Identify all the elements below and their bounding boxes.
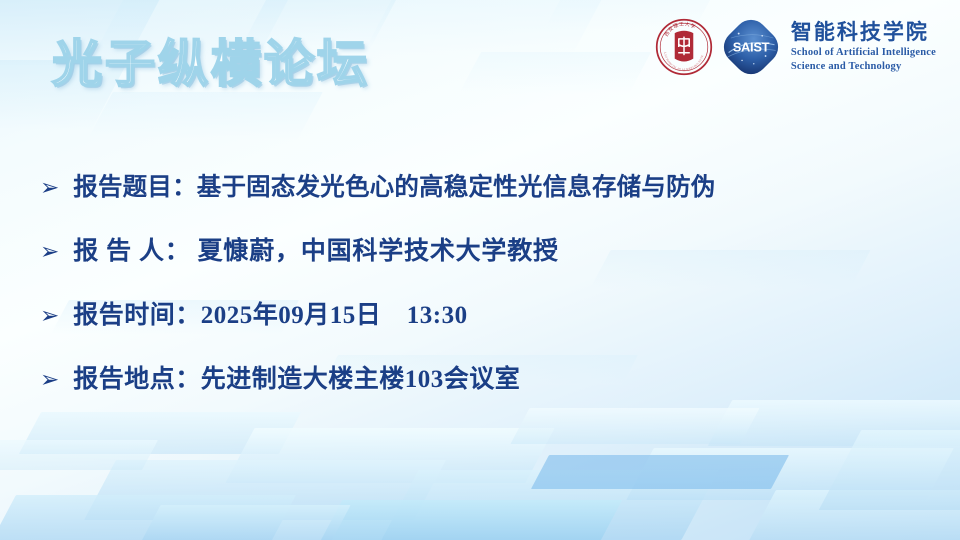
bullet-arrow-icon: ➢ <box>40 305 59 328</box>
school-name-cn: 智能科技学院 <box>791 21 936 45</box>
decor-parallelogram <box>0 495 296 540</box>
talk-location-line: 报告地点：先进制造大楼主楼103会议室 <box>73 359 520 395</box>
decor-parallelogram <box>708 400 960 446</box>
decor-parallelogram <box>84 460 446 520</box>
bullet-arrow-icon: ➢ <box>40 241 59 264</box>
decor-parallelogram <box>626 448 954 500</box>
list-item: ➢ 报告题目：基于固态发光色心的高稳定性光信息存储与防伪 <box>40 168 940 203</box>
decor-parallelogram <box>0 440 158 470</box>
forum-title: 光子纵横论坛 <box>52 24 370 96</box>
list-item: ➢ 报 告 人： 夏慷蔚，中国科学技术大学教授 <box>40 231 940 267</box>
decor-parallelogram <box>459 52 651 94</box>
decor-parallelogram <box>744 490 960 540</box>
decor-parallelogram <box>381 470 718 540</box>
decor-parallelogram <box>318 500 622 540</box>
bullet-arrow-icon: ➢ <box>40 177 59 200</box>
school-name-en-line1: School of Artificial Intelligence <box>791 47 936 59</box>
decor-parallelogram <box>139 505 350 540</box>
decor-parallelogram <box>531 455 789 489</box>
bullet-arrow-icon: ➢ <box>40 369 59 392</box>
saist-logo-text: SAIST <box>733 39 770 54</box>
decor-parallelogram <box>362 0 628 55</box>
details-list: ➢ 报告题目：基于固态发光色心的高稳定性光信息存储与防伪 ➢ 报 告 人： 夏慷… <box>40 168 940 395</box>
decor-parallelogram <box>19 412 301 454</box>
university-seal-icon: 西安理工大学 XI'AN UNIVERSITY OF TECHNOLOGY <box>655 18 713 76</box>
talk-title-line: 报告题目：基于固态发光色心的高稳定性光信息存储与防伪 <box>73 168 715 203</box>
speaker-line: 报 告 人： 夏慷蔚，中国科学技术大学教授 <box>73 231 559 267</box>
list-item: ➢ 报告地点：先进制造大楼主楼103会议室 <box>40 359 940 395</box>
list-item: ➢ 报告时间：2025年09月15日 13:30 <box>40 295 940 331</box>
decor-parallelogram <box>87 92 323 140</box>
decor-parallelogram <box>225 428 554 483</box>
decor-parallelogram <box>819 430 960 510</box>
saist-diamond-logo-icon: SAIST <box>723 19 779 75</box>
decor-parallelogram <box>510 408 759 444</box>
talk-time-line: 报告时间：2025年09月15日 13:30 <box>73 295 467 331</box>
presentation-slide: 光子纵横论坛 西安理工大学 XI'AN UNIVERSITY OF TECHNO… <box>0 0 960 540</box>
school-name-block: 智能科技学院 School of Artificial Intelligence… <box>789 21 936 72</box>
school-name-en-line2: Science and Technology <box>791 61 936 73</box>
branding-block: 西安理工大学 XI'AN UNIVERSITY OF TECHNOLOGY <box>655 18 936 76</box>
